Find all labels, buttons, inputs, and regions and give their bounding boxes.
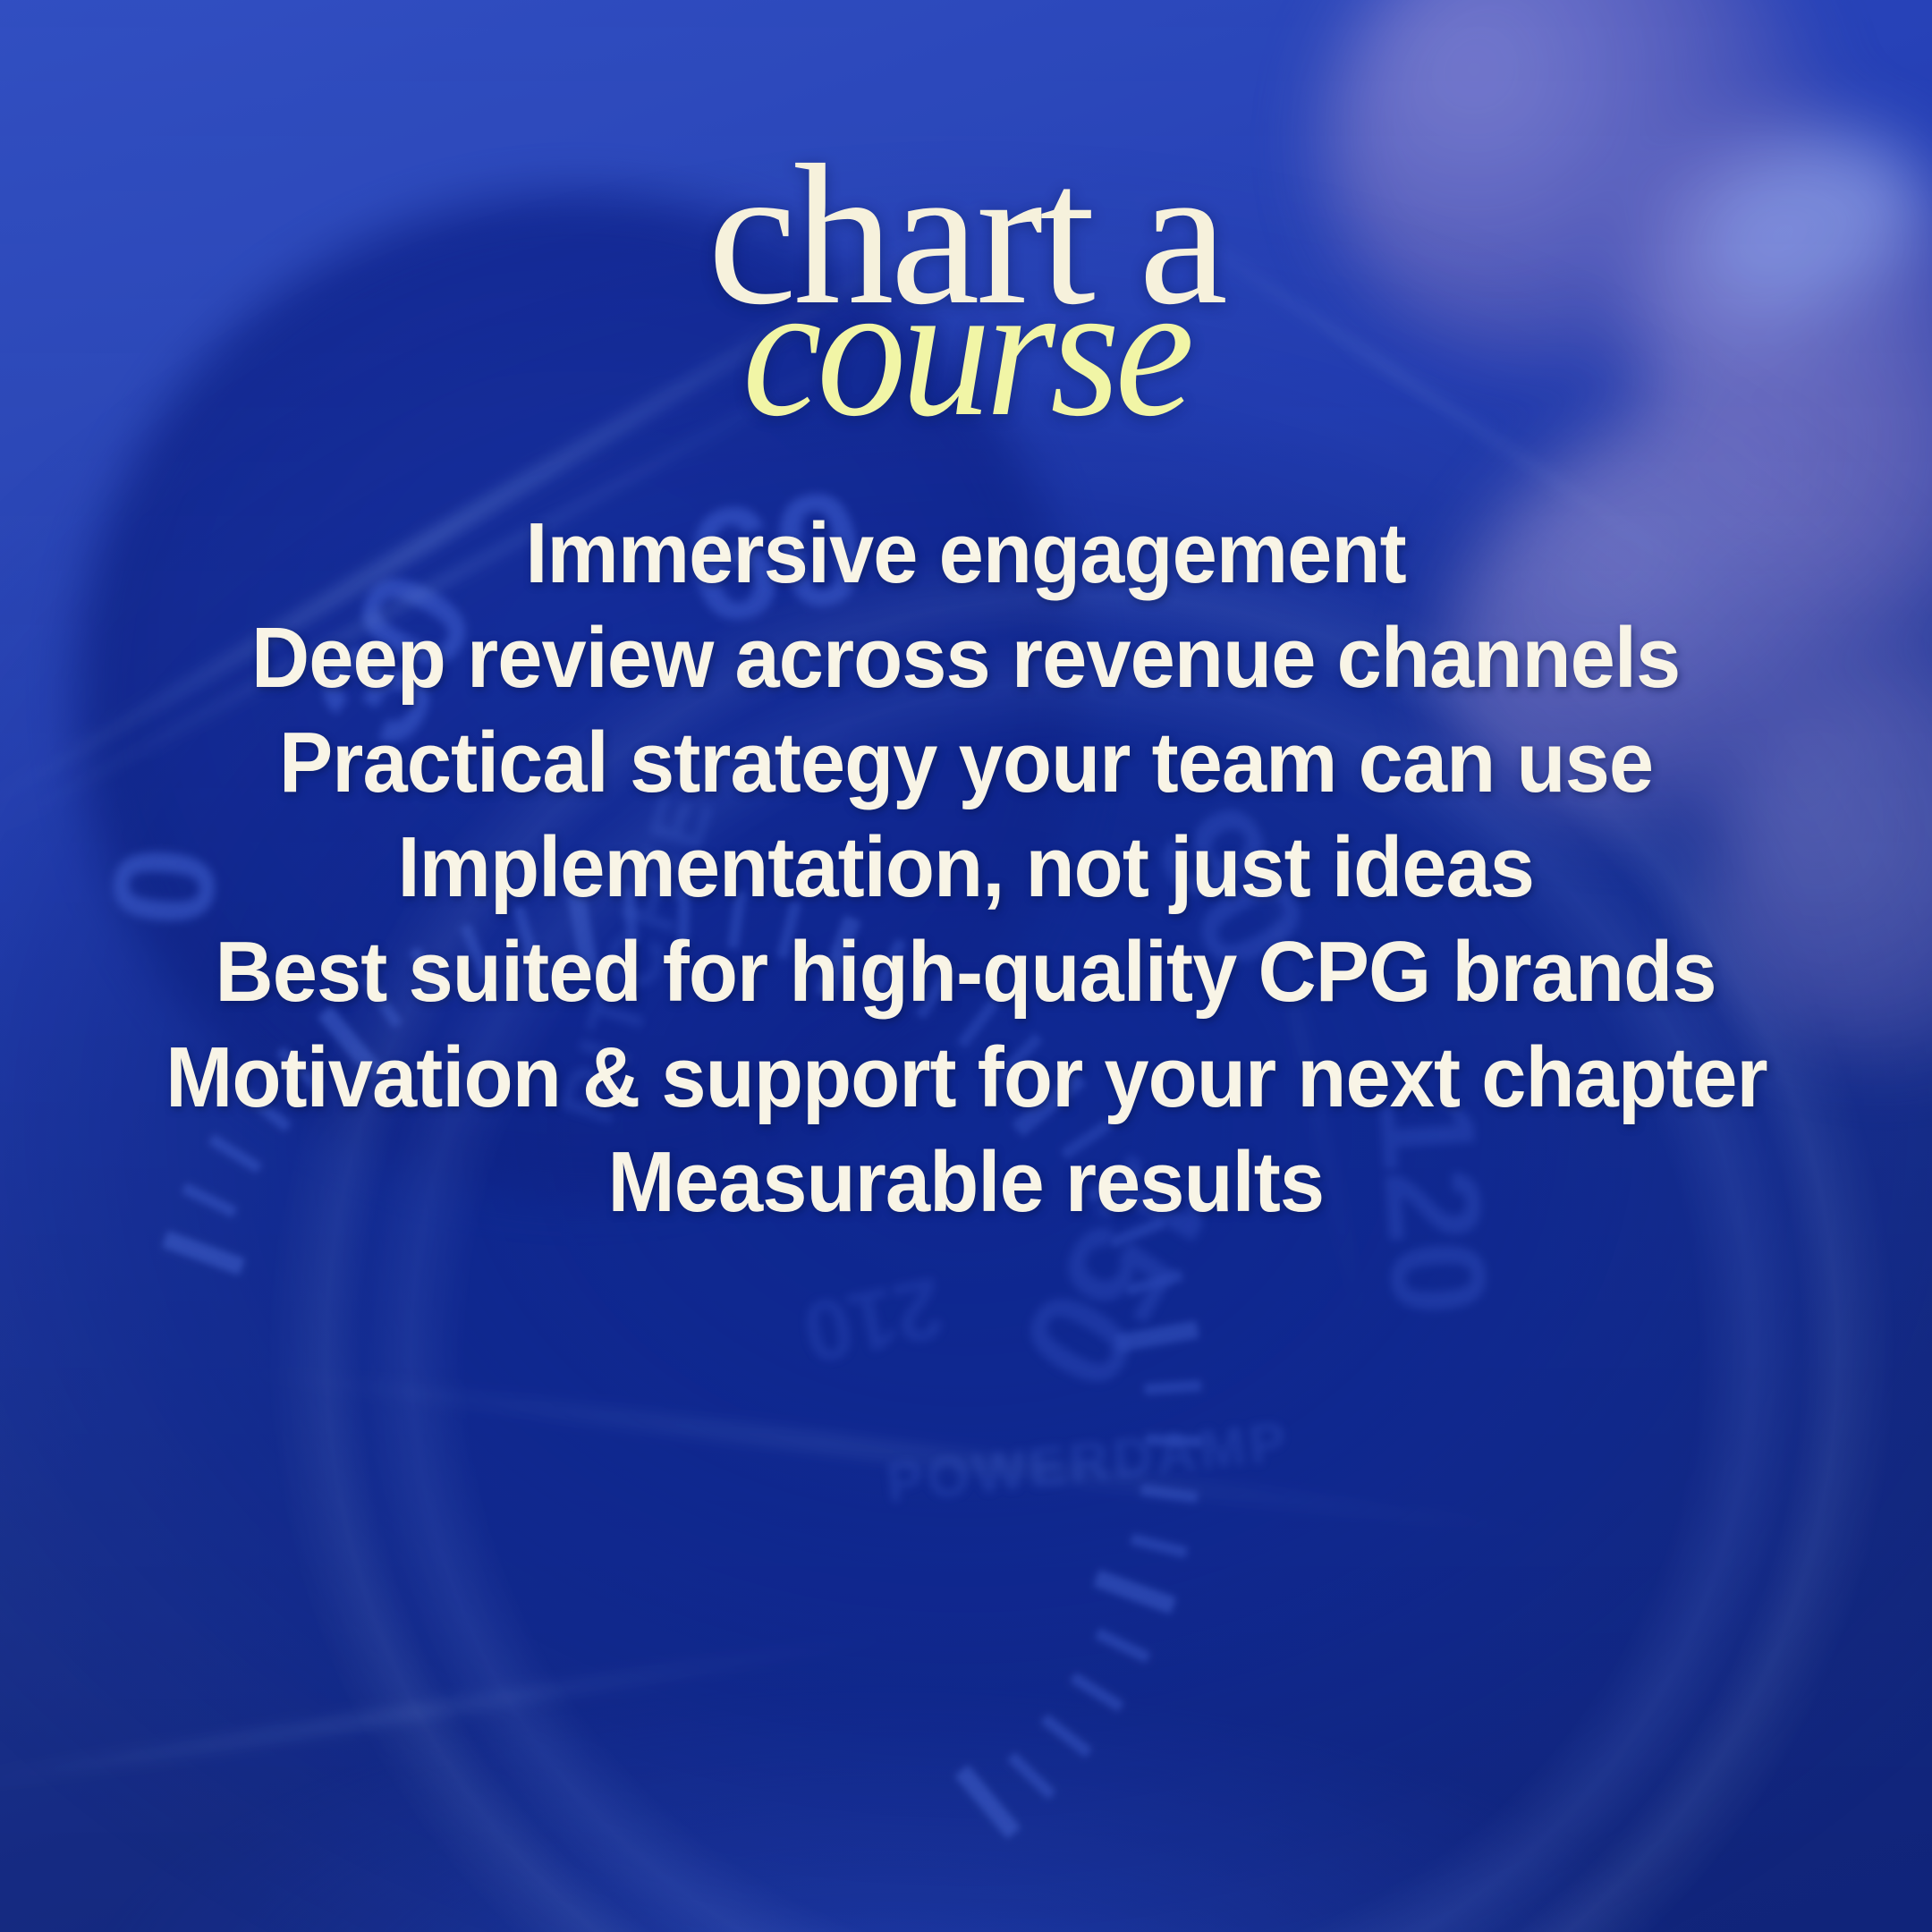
benefit-line-2: Deep review across revenue channels	[251, 606, 1680, 710]
poster-content: chart a course Immersive engagement Deep…	[0, 0, 1932, 1932]
benefit-line-7: Measurable results	[608, 1130, 1325, 1234]
benefit-line-3: Practical strategy your team can use	[279, 710, 1653, 815]
benefit-line-4: Implementation, not just ideas	[398, 815, 1534, 919]
benefit-line-1: Immersive engagement	[526, 501, 1406, 606]
poster-canvas: 60 30 0 90 120 150 210 RITCHIE POWERDAMP…	[0, 0, 1932, 1932]
benefit-list: Immersive engagement Deep review across …	[0, 501, 1932, 1234]
logo-lockup: chart a course	[708, 134, 1224, 445]
benefit-line-5: Best suited for high-quality CPG brands	[216, 919, 1716, 1024]
benefit-line-6: Motivation & support for your next chapt…	[165, 1025, 1767, 1130]
logo-line-course: course	[725, 253, 1206, 445]
